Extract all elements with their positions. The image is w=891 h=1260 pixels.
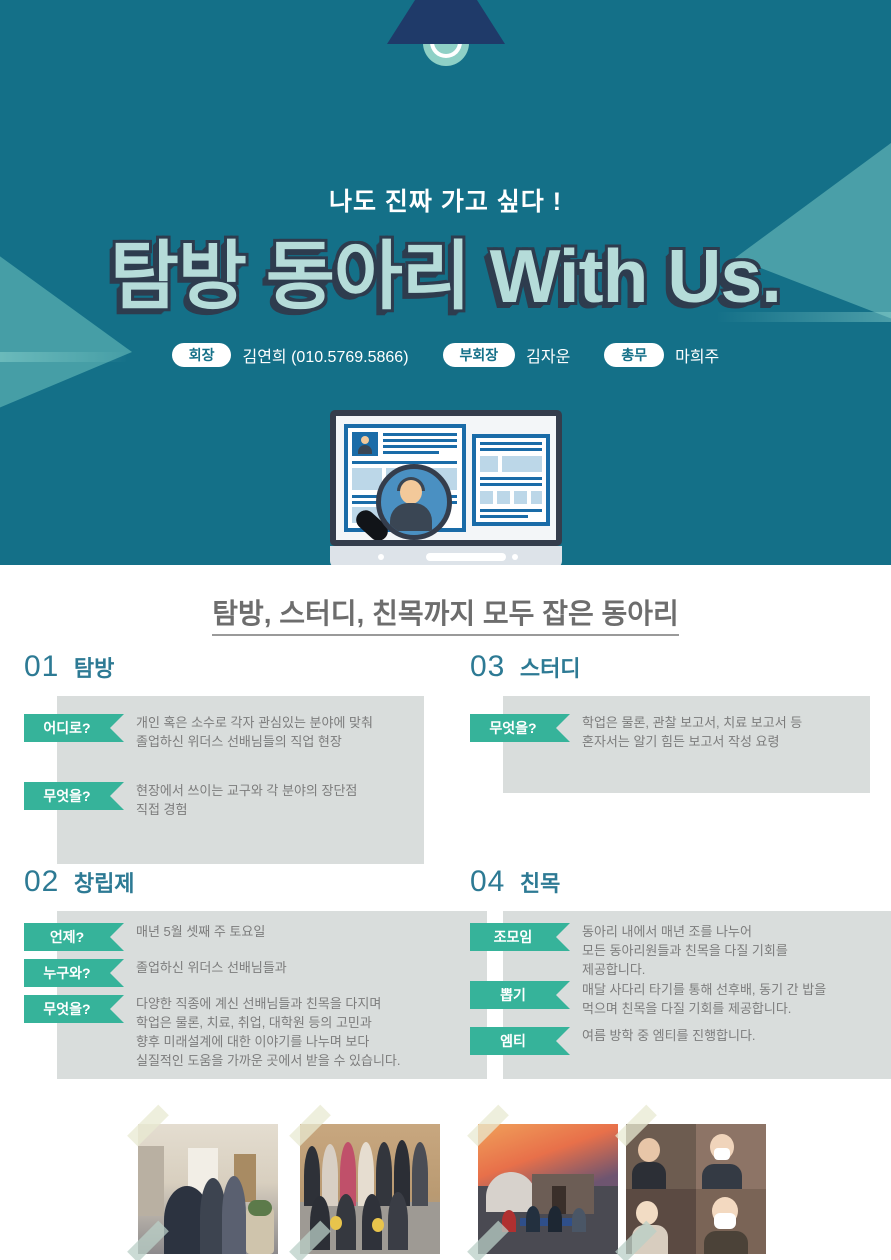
block-02-tag-1: 언제? bbox=[24, 923, 110, 951]
role-badge-vice-president: 부회장 bbox=[443, 343, 516, 367]
desk-lamp-icon bbox=[381, 0, 511, 70]
block-03-header: 03 스터디 bbox=[470, 650, 870, 684]
contact-item-vice-president: 부회장 김자운 bbox=[443, 343, 571, 367]
block-01-header: 01 탐방 bbox=[24, 650, 424, 684]
lamp-shade-icon bbox=[387, 0, 505, 44]
block-02-row-1: 언제? 매년 5월 셋째 주 토요일 bbox=[24, 923, 484, 951]
block-01-tag-2: 무엇을? bbox=[24, 782, 110, 810]
block-03-number: 03 bbox=[470, 650, 505, 684]
block-04-row-2: 뽑기 매달 사다리 타기를 통해 선후배, 동기 간 밥을 먹으며 친목을 다질… bbox=[470, 981, 890, 1019]
block-03-study: 03 스터디 무엇을? 학업은 물론, 관찰 보고서, 치료 보고서 등 혼자서… bbox=[470, 650, 870, 684]
monitor-search-icon bbox=[310, 410, 582, 565]
role-badge-treasurer: 총무 bbox=[604, 343, 664, 367]
block-03-text-1: 학업은 물론, 관찰 보고서, 치료 보고서 등 혼자서는 알기 힘든 보고서 … bbox=[582, 714, 870, 752]
contact-name-president: 김연희 (010.5769.5866) bbox=[242, 343, 408, 367]
hero-banner: 나도 진짜 가고 싶다 ! 탐방 동아리 With Us. 회장 김연희 (01… bbox=[0, 0, 891, 565]
monitor-screen bbox=[336, 416, 556, 540]
block-04-tag-2: 뽑기 bbox=[470, 981, 556, 1009]
block-04-friendship: 04 친목 조모임 동아리 내에서 매년 조를 나누어 모든 동아리원들과 친목… bbox=[470, 865, 890, 899]
block-01-tamkbang: 01 탐방 어디로? 개인 혹은 소수로 각자 관심있는 분야에 맞춰 졸업하신… bbox=[24, 650, 424, 684]
block-04-text-2: 매달 사다리 타기를 통해 선후배, 동기 간 밥을 먹으며 친목을 다질 기회… bbox=[582, 981, 890, 1019]
block-01-text-1: 개인 혹은 소수로 각자 관심있는 분야에 맞춰 졸업하신 위더스 선배님들의 … bbox=[136, 714, 424, 752]
photo-gallery bbox=[0, 1112, 891, 1260]
section-heading: 탐방, 스터디, 친목까지 모두 잡은 동아리 bbox=[0, 592, 891, 632]
block-04-text-3: 여름 방학 중 엠티를 진행합니다. bbox=[582, 1027, 890, 1046]
block-04-tag-1: 조모임 bbox=[470, 923, 556, 951]
block-02-founding-festival: 02 창립제 언제? 매년 5월 셋째 주 토요일 누구와? 졸업하신 위더스 … bbox=[24, 865, 454, 899]
block-01-tag-1: 어디로? bbox=[24, 714, 110, 742]
block-04-row-1: 조모임 동아리 내에서 매년 조를 나누어 모든 동아리원들과 친목을 다질 기… bbox=[470, 923, 890, 980]
hero-title: 탐방 동아리 With Us. bbox=[0, 215, 891, 324]
block-03-tag-1: 무엇을? bbox=[470, 714, 556, 742]
block-02-row-3: 무엇을? 다양한 직종에 계신 선배님들과 친목을 다지며 학업은 물론, 치료… bbox=[24, 995, 484, 1070]
contact-name-treasurer: 마희주 bbox=[675, 343, 719, 367]
contact-list: 회장 김연희 (010.5769.5866) 부회장 김자운 총무 마희주 bbox=[0, 343, 891, 367]
block-02-header: 02 창립제 bbox=[24, 865, 454, 899]
poster-root: 나도 진짜 가고 싶다 ! 탐방 동아리 With Us. 회장 김연희 (01… bbox=[0, 0, 891, 1260]
block-02-number: 02 bbox=[24, 865, 59, 899]
block-02-row-2: 누구와? 졸업하신 위더스 선배님들과 bbox=[24, 959, 484, 987]
block-04-row-3: 엠티 여름 방학 중 엠티를 진행합니다. bbox=[470, 1027, 890, 1055]
block-02-tag-3: 무엇을? bbox=[24, 995, 110, 1023]
hero-tagline: 나도 진짜 가고 싶다 ! bbox=[0, 182, 891, 218]
block-04-text-1: 동아리 내에서 매년 조를 나누어 모든 동아리원들과 친목을 다질 기회를 제… bbox=[582, 923, 890, 980]
monitor-frame bbox=[330, 410, 562, 546]
block-02-text-1: 매년 5월 셋째 주 토요일 bbox=[136, 923, 484, 942]
block-02-title: 창립제 bbox=[74, 866, 135, 898]
block-02-tag-2: 누구와? bbox=[24, 959, 110, 987]
monitor-base-bar bbox=[330, 546, 562, 565]
block-04-number: 04 bbox=[470, 865, 505, 899]
contact-item-treasurer: 총무 마희주 bbox=[604, 343, 719, 367]
block-01-title: 탐방 bbox=[74, 651, 114, 683]
block-01-row-2: 무엇을? 현장에서 쓰이는 교구와 각 분야의 장단점 직접 경험 bbox=[24, 782, 424, 820]
block-03-title: 스터디 bbox=[520, 651, 581, 683]
block-02-text-2: 졸업하신 위더스 선배님들과 bbox=[136, 959, 484, 978]
role-badge-president: 회장 bbox=[172, 343, 232, 367]
section-heading-text: 탐방, 스터디, 친목까지 모두 잡은 동아리 bbox=[212, 598, 679, 636]
block-01-row-1: 어디로? 개인 혹은 소수로 각자 관심있는 분야에 맞춰 졸업하신 위더스 선… bbox=[24, 714, 424, 752]
block-04-title: 친목 bbox=[520, 866, 560, 898]
block-01-number: 01 bbox=[24, 650, 59, 684]
magnifier-lens-icon bbox=[376, 464, 452, 540]
block-03-row-1: 무엇을? 학업은 물론, 관찰 보고서, 치료 보고서 등 혼자서는 알기 힘든… bbox=[470, 714, 870, 752]
contact-item-president: 회장 김연희 (010.5769.5866) bbox=[172, 343, 409, 367]
block-02-text-3: 다양한 직종에 계신 선배님들과 친목을 다지며 학업은 물론, 치료, 취업,… bbox=[136, 995, 484, 1070]
block-04-header: 04 친목 bbox=[470, 865, 890, 899]
block-01-text-2: 현장에서 쓰이는 교구와 각 분야의 장단점 직접 경험 bbox=[136, 782, 424, 820]
contact-name-vice-president: 김자운 bbox=[526, 343, 570, 367]
block-04-tag-3: 엠티 bbox=[470, 1027, 556, 1055]
